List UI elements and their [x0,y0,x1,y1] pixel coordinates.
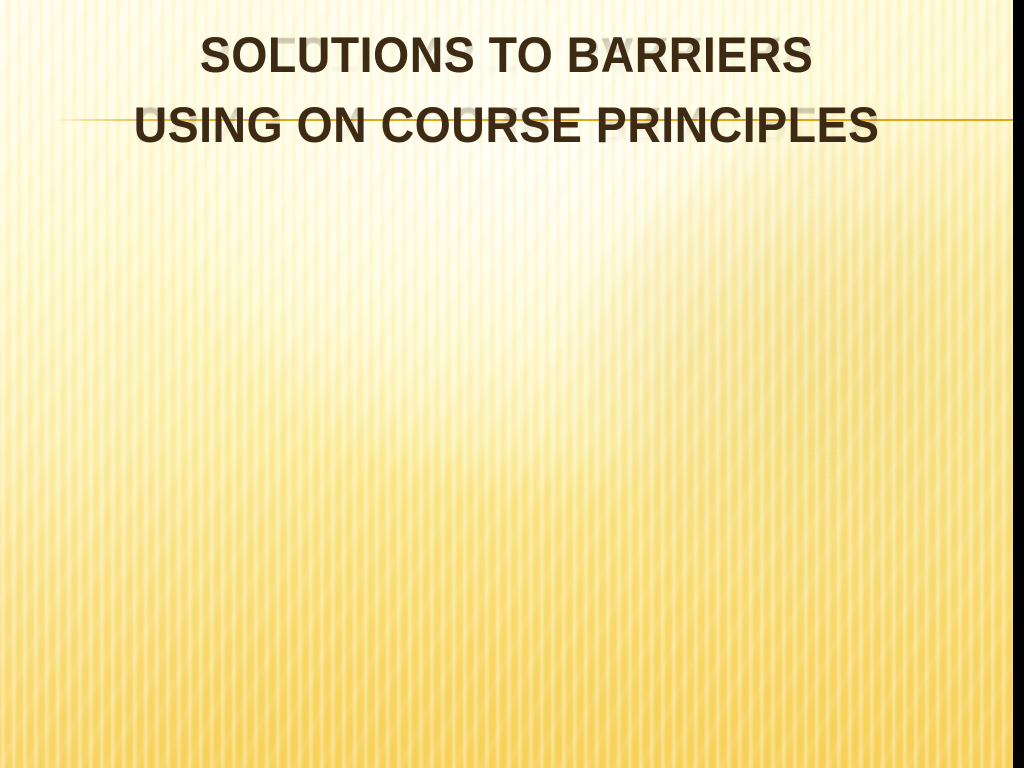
background-arc-highlight-inner [648,215,1013,614]
background-diagonal-sheen [0,0,1013,768]
background-diagonal-stripe-texture [0,0,1013,768]
background-center-glow [182,0,932,476]
background-bottom-warm-wash [0,445,1013,768]
presentation-slide: Solutions to Barriers Solutions to Barri… [0,0,1024,768]
background-vertical-pinstripe-texture [0,0,1013,768]
background-arc-highlight [588,131,1013,623]
title-divider-rule [52,119,1013,121]
slide-right-black-border [1013,0,1024,768]
slide-background [0,0,1013,768]
